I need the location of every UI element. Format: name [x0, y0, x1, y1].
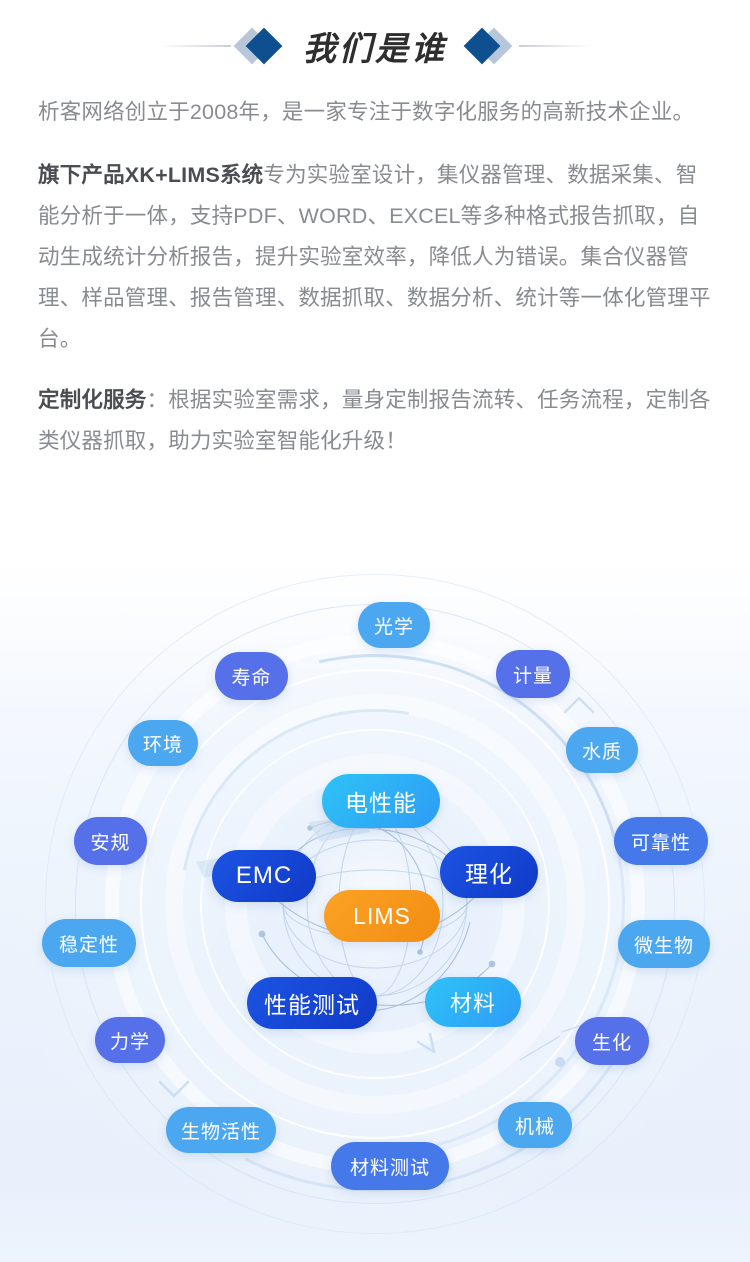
bubble-item-5[interactable]: 安规: [74, 817, 147, 865]
bubble-item-18[interactable]: 生物活性: [166, 1107, 276, 1153]
bubble-item-1[interactable]: 计量: [496, 650, 570, 698]
bubble-item-12[interactable]: 微生物: [618, 920, 710, 968]
bubble-item-9[interactable]: 理化: [440, 846, 538, 898]
bubble-label: 材料测试: [350, 1153, 430, 1180]
bubble-item-7[interactable]: 电性能: [322, 774, 440, 828]
bubble-label: 寿命: [231, 663, 271, 690]
bubble-item-6[interactable]: 可靠性: [614, 817, 708, 865]
bubble-label: LIMS: [353, 903, 411, 930]
bubble-label: 环境: [143, 730, 183, 757]
paragraph-custom-strong: 定制化服务: [38, 388, 147, 412]
paragraph-product-text: 专为实验室设计，集仪器管理、数据采集、智能分析于一体，支持PDF、WORD、EX…: [38, 163, 711, 351]
bubble-label: 电性能: [345, 784, 417, 818]
bubble-label: 力学: [110, 1027, 150, 1054]
paragraph-product: 旗下产品XK+LIMS系统专为实验室设计，集仪器管理、数据采集、智能分析于一体，…: [38, 155, 712, 360]
bubble-label: 性能测试: [264, 986, 360, 1020]
header-rule-left: [159, 45, 231, 47]
bubble-item-15[interactable]: 生化: [575, 1017, 649, 1065]
diamond-pair-icon-right: [457, 26, 519, 66]
page-title: 我们是谁: [293, 22, 457, 70]
capability-diagram: 光学计量寿命环境水质安规可靠性电性能EMC理化LIMS稳定性微生物性能测试材料生…: [0, 562, 750, 1262]
bubble-label: 可靠性: [631, 828, 691, 855]
section-header: 我们是谁: [0, 0, 750, 92]
diamond-pair-icon-left: [231, 26, 293, 66]
bubble-label: EMC: [236, 862, 292, 890]
page-root: 我们是谁 析客网络创立于2008年，是一家专注于数字化服务的高新技术企业。 旗下…: [0, 0, 750, 1262]
bubble-item-11[interactable]: 稳定性: [42, 919, 136, 967]
bubble-lims-center[interactable]: LIMS: [324, 890, 440, 942]
bubble-item-4[interactable]: 水质: [566, 727, 638, 773]
bubble-label: 光学: [374, 612, 414, 639]
bubble-item-14[interactable]: 材料: [425, 977, 521, 1027]
bubble-item-17[interactable]: 机械: [498, 1102, 572, 1148]
paragraph-product-strong: 旗下产品XK+LIMS系统: [38, 163, 263, 187]
bubble-item-2[interactable]: 寿命: [215, 652, 288, 700]
bubble-item-16[interactable]: 力学: [95, 1017, 165, 1063]
bubble-label: 材料: [450, 986, 496, 1018]
paragraph-intro: 析客网络创立于2008年，是一家专注于数字化服务的高新技术企业。: [38, 92, 712, 133]
bubble-label: 生化: [592, 1028, 632, 1055]
section-body-copy: 析客网络创立于2008年，是一家专注于数字化服务的高新技术企业。 旗下产品XK+…: [0, 92, 750, 462]
bubble-label: 理化: [465, 855, 513, 889]
bubble-label: 安规: [90, 828, 130, 855]
header-rule-right: [519, 45, 591, 47]
bubble-label: 微生物: [634, 931, 694, 958]
bubble-item-8[interactable]: EMC: [212, 850, 316, 902]
bubble-item-13[interactable]: 性能测试: [247, 977, 377, 1029]
bubble-label: 机械: [515, 1112, 555, 1139]
bubble-item-3[interactable]: 环境: [128, 720, 198, 766]
bubble-item-19[interactable]: 材料测试: [331, 1142, 449, 1190]
paragraph-intro-text: 析客网络创立于2008年，是一家专注于数字化服务的高新技术企业。: [38, 100, 694, 124]
bubble-item-0[interactable]: 光学: [358, 602, 430, 648]
bubble-label: 生物活性: [181, 1117, 261, 1144]
bubble-label: 水质: [582, 737, 622, 764]
bubble-label: 计量: [513, 661, 553, 688]
paragraph-custom: 定制化服务：根据实验室需求，量身定制报告流转、任务流程，定制各类仪器抓取，助力实…: [38, 380, 712, 462]
bubble-label: 稳定性: [59, 930, 119, 957]
